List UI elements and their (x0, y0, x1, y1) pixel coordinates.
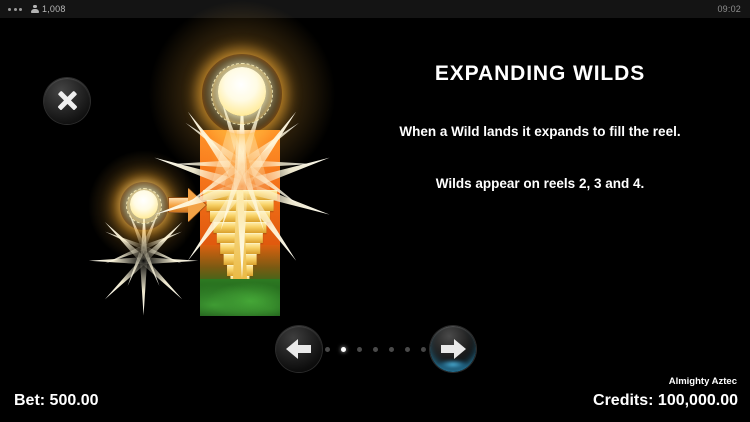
status-bar: 1,008 09:02 (0, 0, 750, 18)
three-dots-icon[interactable] (8, 8, 22, 11)
credits-label: Credits: 100,000.00 (593, 392, 738, 410)
user-count-label: 1,008 (42, 4, 66, 14)
game-info-screen: 1,008 09:02 (0, 0, 750, 422)
pagination-dot[interactable] (325, 347, 330, 352)
pagination-dots (0, 318, 750, 380)
sun-wild-symbol-large-icon (178, 30, 306, 158)
pagination-dot[interactable] (405, 347, 410, 352)
pagination-dot[interactable] (373, 347, 378, 352)
pagination-dot[interactable] (421, 347, 426, 352)
bet-label: Bet: 500.00 (14, 392, 99, 410)
footer-bar: Bet: 500.00 Almighty Aztec Credits: 100,… (0, 374, 750, 422)
description-line-2: Wilds appear on reels 2, 3 and 4. (330, 176, 750, 191)
status-bar-left: 1,008 (8, 4, 66, 14)
game-title-label: Almighty Aztec (669, 376, 737, 387)
page-title: EXPANDING WILDS (340, 62, 740, 86)
arrow-left-icon (286, 339, 312, 359)
clock-label: 09:02 (717, 4, 741, 14)
pagination-bar (0, 318, 750, 380)
next-page-button[interactable] (430, 326, 476, 372)
pagination-dot[interactable] (341, 347, 346, 352)
arrow-right-icon (440, 339, 466, 359)
pagination-dot[interactable] (389, 347, 394, 352)
user-count-group: 1,008 (31, 4, 66, 14)
description-line-1: When a Wild lands it expands to fill the… (330, 124, 750, 139)
expanding-wild-illustration (0, 18, 340, 318)
person-icon (31, 5, 39, 14)
pagination-dot[interactable] (357, 347, 362, 352)
jungle-foliage (200, 279, 280, 316)
